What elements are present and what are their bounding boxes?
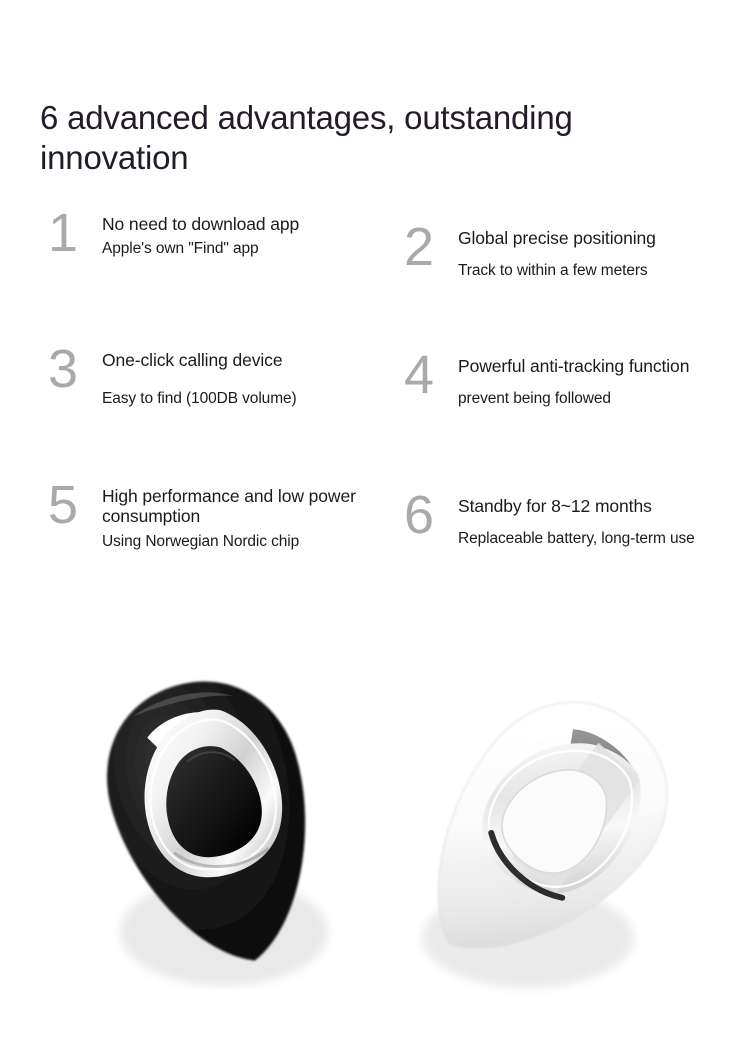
feature-body-5: High performance and low power consumpti…	[102, 484, 368, 551]
feature-subtitle-4: prevent being followed	[458, 390, 724, 408]
page-title: 6 advanced advantages, outstanding innov…	[40, 98, 712, 179]
feature-title-4: Powerful anti-tracking function	[458, 356, 724, 376]
feature-grid: 1 No need to download app Apple's own "F…	[0, 212, 750, 602]
feature-number-3: 3	[48, 344, 102, 395]
feature-item-5: 5 High performance and low power consump…	[48, 484, 368, 551]
feature-subtitle-3: Easy to find (100DB volume)	[102, 390, 368, 408]
feature-body-1: No need to download app Apple's own "Fin…	[102, 212, 368, 259]
feature-number-2: 2	[404, 222, 458, 273]
feature-body-4: Powerful anti-tracking function prevent …	[458, 354, 724, 409]
white-key-finder-image	[378, 670, 708, 1000]
feature-title-2: Global precise positioning	[458, 228, 724, 248]
product-photo-area	[0, 612, 750, 1049]
black-key-finder-image	[56, 660, 376, 990]
feature-item-1: 1 No need to download app Apple's own "F…	[48, 212, 368, 259]
feature-subtitle-6: Replaceable battery, long-term use	[458, 530, 724, 548]
feature-number-6: 6	[404, 490, 458, 541]
feature-title-3: One-click calling device	[102, 350, 368, 370]
feature-item-3: 3 One-click calling device Easy to find …	[48, 348, 368, 409]
feature-number-1: 1	[48, 208, 102, 259]
feature-title-5: High performance and low power consumpti…	[102, 486, 368, 527]
feature-title-6: Standby for 8~12 months	[458, 496, 724, 516]
feature-title-1: No need to download app	[102, 214, 368, 234]
feature-number-5: 5	[48, 480, 102, 531]
feature-subtitle-1: Apple's own "Find" app	[102, 240, 368, 258]
feature-body-3: One-click calling device Easy to find (1…	[102, 348, 368, 409]
feature-item-2: 2 Global precise positioning Track to wi…	[404, 226, 724, 281]
feature-subtitle-5: Using Norwegian Nordic chip	[102, 533, 368, 551]
product-infographic-page: 6 advanced advantages, outstanding innov…	[0, 0, 750, 1049]
feature-body-6: Standby for 8~12 months Replaceable batt…	[458, 494, 724, 549]
feature-subtitle-2: Track to within a few meters	[458, 262, 724, 280]
feature-item-6: 6 Standby for 8~12 months Replaceable ba…	[404, 494, 724, 549]
feature-item-4: 4 Powerful anti-tracking function preven…	[404, 354, 724, 409]
feature-body-2: Global precise positioning Track to with…	[458, 226, 724, 281]
feature-number-4: 4	[404, 350, 458, 401]
